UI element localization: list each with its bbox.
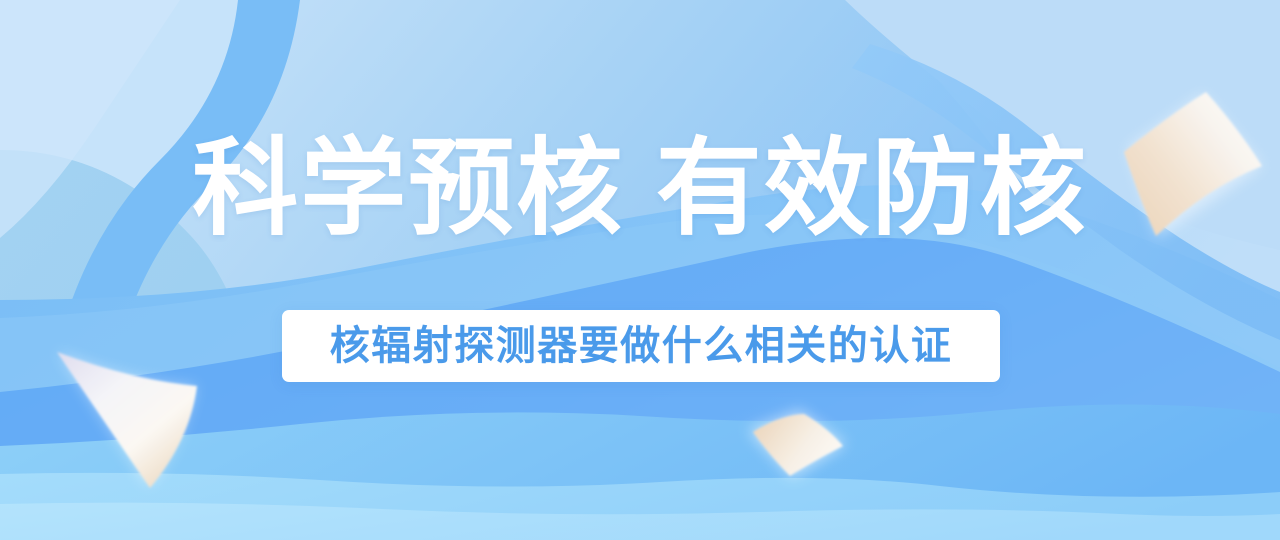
promo-banner: 科学预核 有效防核 核辐射探测器要做什么相关的认证 [0, 0, 1280, 540]
subtitle-text: 核辐射探测器要做什么相关的认证 [330, 324, 953, 368]
banner-content: 科学预核 有效防核 核辐射探测器要做什么相关的认证 [0, 0, 1280, 540]
subtitle-pill: 核辐射探测器要做什么相关的认证 [282, 310, 1000, 382]
page-title: 科学预核 有效防核 [0, 131, 1280, 247]
